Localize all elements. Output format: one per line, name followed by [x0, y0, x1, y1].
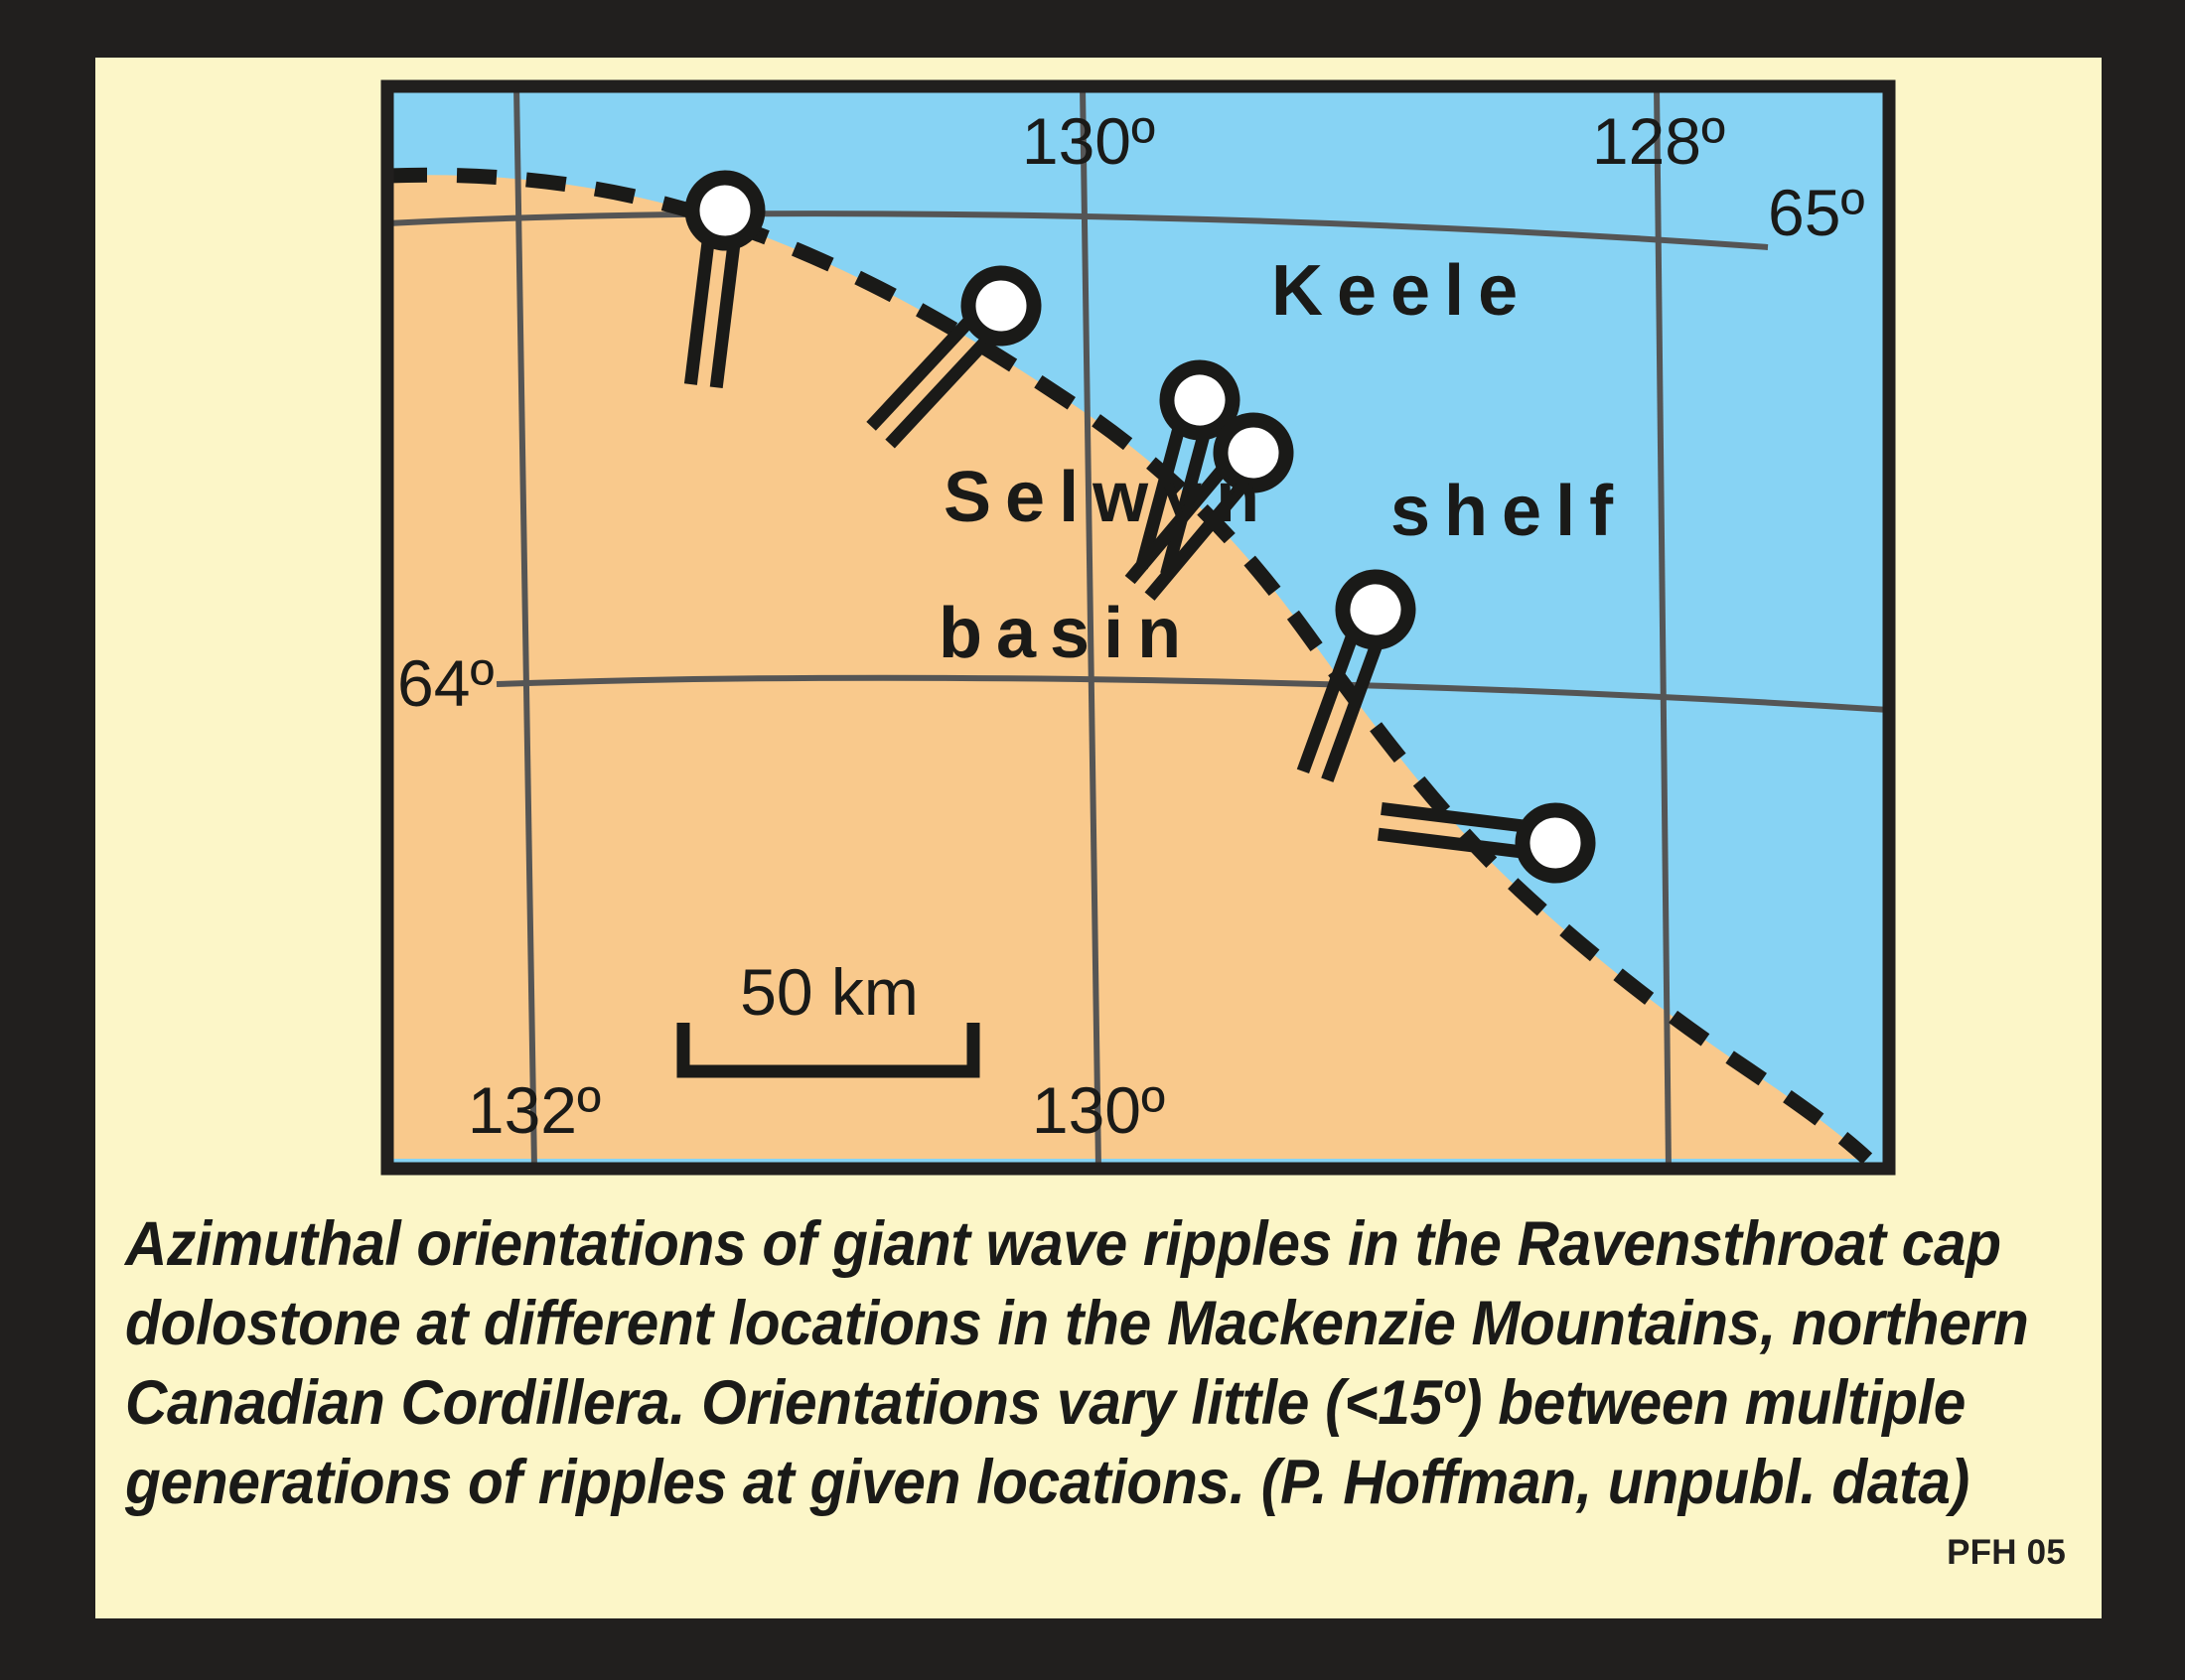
caption-line-2: dolostone at different locations in the … — [125, 1284, 1938, 1363]
label-lon-128-top: 128º — [1592, 104, 1725, 178]
label-lon-132-bottom: 132º — [468, 1073, 601, 1147]
region-label-selwyn-line2: basin — [939, 594, 1195, 673]
region-label-keele-line1: Keele — [1271, 251, 1531, 331]
map-svg: Selwyn basin Keele shelf 130º 128º 65º 6… — [377, 76, 1899, 1179]
label-lat-64-left: 64º — [397, 646, 495, 720]
label-lon-130-bottom: 130º — [1032, 1073, 1165, 1147]
caption-line-1: Azimuthal orientations of giant wave rip… — [125, 1204, 1938, 1284]
figure-caption: Azimuthal orientations of giant wave rip… — [125, 1204, 1938, 1522]
ripple-marker — [1519, 806, 1592, 880]
region-label-keele-line2: shelf — [1390, 472, 1627, 551]
ripple-marker — [688, 174, 762, 247]
figure-panel: Selwyn basin Keele shelf 130º 128º 65º 6… — [95, 58, 2102, 1618]
credit-label: PFH 05 — [1947, 1533, 2066, 1573]
caption-line-3: Canadian Cordillera. Orientations vary l… — [125, 1363, 1938, 1443]
scalebar-label: 50 km — [740, 955, 919, 1029]
caption-line-4: generations of ripples at given location… — [125, 1443, 1938, 1522]
label-lat-65-right: 65º — [1768, 176, 1865, 249]
label-lon-130-top: 130º — [1022, 104, 1155, 178]
region-label-selwyn-line1: Selwyn — [944, 458, 1273, 537]
map-container: Selwyn basin Keele shelf 130º 128º 65º 6… — [377, 76, 1899, 1179]
